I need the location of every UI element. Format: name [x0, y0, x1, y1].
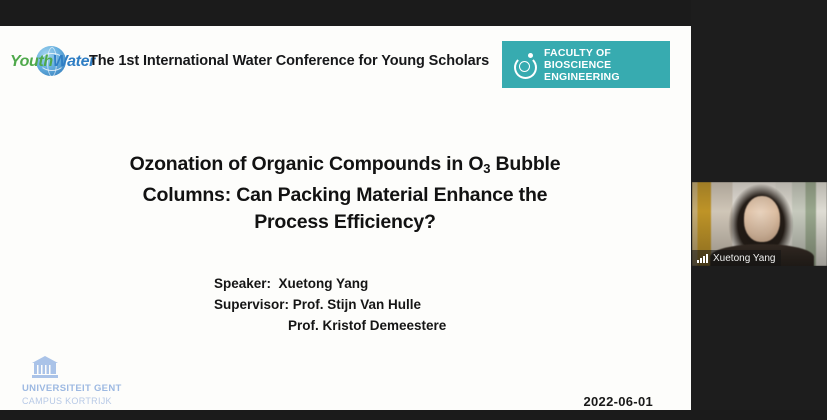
signal-strength-icon	[697, 254, 708, 263]
slide-title-line1-post: Bubble	[490, 153, 560, 175]
slide-title-line2: Columns: Can Packing Material Enhance th…	[143, 184, 548, 206]
ugent-logo: UNIVERSITEIT GENT CAMPUS KORTRIJK	[22, 356, 142, 407]
slide-title-line1-pre: Ozonation of Organic Compounds in O	[130, 153, 484, 175]
participant-name: Xuetong Yang	[713, 253, 775, 264]
youthwater-logo: YouthWater	[10, 46, 82, 78]
youthwater-youth-text: Youth	[10, 53, 53, 70]
university-campus: CAMPUS KORTRIJK	[22, 395, 142, 407]
faculty-badge: FACULTY OF BIOSCIENCE ENGINEERING	[502, 41, 670, 88]
faculty-emblem-icon	[513, 53, 536, 76]
slide-header: YouthWater The 1st International Water C…	[0, 35, 691, 89]
slide-date: 2022-06-01	[584, 394, 654, 409]
participant-name-bar: Xuetong Yang	[692, 250, 781, 266]
university-building-icon	[32, 356, 58, 378]
faculty-line-1: FACULTY OF	[544, 47, 611, 59]
meeting-screen-share-view: YouthWater The 1st International Water C…	[0, 0, 827, 420]
speaker-line: Speaker: Xuetong Yang	[214, 273, 446, 294]
youthwater-wordmark: YouthWater	[10, 54, 95, 70]
conference-title: The 1st International Water Conference f…	[89, 53, 489, 69]
faculty-line-2: BIOSCIENCE ENGINEERING	[544, 59, 670, 83]
university-name: UNIVERSITEIT GENT	[22, 383, 142, 395]
shared-slide[interactable]: YouthWater The 1st International Water C…	[0, 26, 691, 410]
supervisor-line-2: Prof. Kristof Demeestere	[214, 315, 446, 336]
slide-title-line3: Process Efficiency?	[254, 211, 436, 233]
credits-block: Speaker: Xuetong Yang Supervisor: Prof. …	[214, 273, 446, 336]
slide-title: Ozonation of Organic Compounds in O3 Bub…	[60, 151, 630, 236]
supervisor-line-1: Supervisor: Prof. Stijn Van Hulle	[214, 294, 446, 315]
faculty-badge-text: FACULTY OF BIOSCIENCE ENGINEERING	[544, 47, 670, 83]
window-bottom-bar	[0, 410, 827, 420]
participant-video-tile[interactable]: Xuetong Yang	[692, 182, 827, 266]
